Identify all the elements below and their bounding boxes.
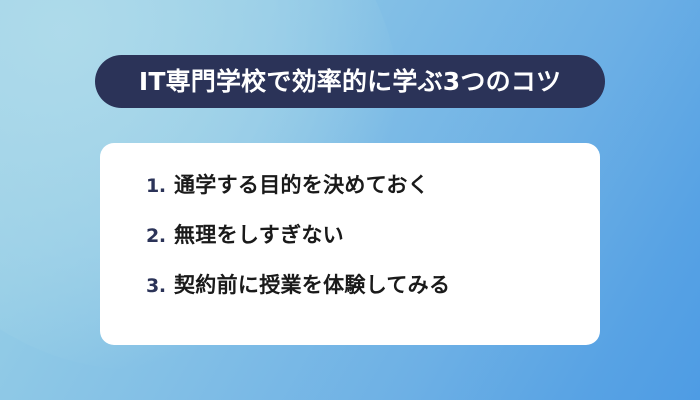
content-card: 1. 通学する目的を決めておく 2. 無理をしすぎない 3. 契約前に授業を体験… <box>100 143 600 345</box>
list-item-label: 無理をしすぎない <box>174 225 344 246</box>
list-item: 1. 通学する目的を決めておく <box>146 175 600 225</box>
list-item: 3. 契約前に授業を体験してみる <box>146 275 600 325</box>
list-item-marker: 3. <box>146 275 174 297</box>
title-pill: IT専門学校で効率的に学ぶ3つのコツ <box>95 55 605 108</box>
slide-canvas: IT専門学校で効率的に学ぶ3つのコツ 1. 通学する目的を決めておく 2. 無理… <box>0 0 700 400</box>
list-item: 2. 無理をしすぎない <box>146 225 600 275</box>
list-item-marker: 2. <box>146 225 174 247</box>
page-title: IT専門学校で効率的に学ぶ3つのコツ <box>139 69 561 94</box>
list-item-marker: 1. <box>146 175 174 197</box>
list-item-label: 通学する目的を決めておく <box>174 175 429 196</box>
list-item-label: 契約前に授業を体験してみる <box>174 275 450 296</box>
